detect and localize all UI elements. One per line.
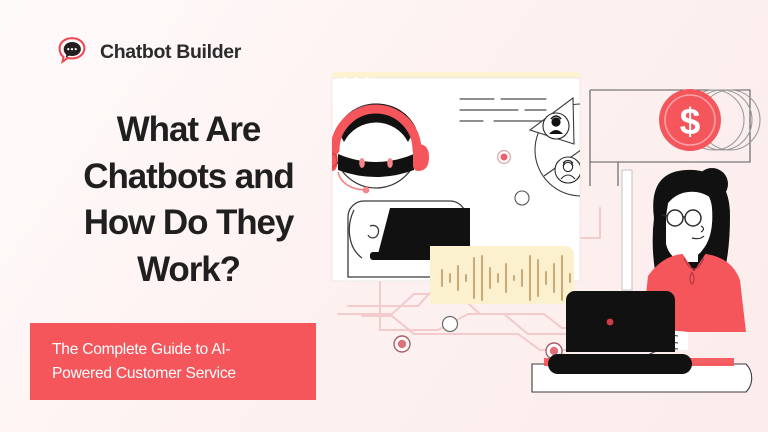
robot-earcup-left xyxy=(321,144,337,171)
illustration-svg: $ xyxy=(318,58,768,398)
headline-line-1: What Are xyxy=(117,110,261,149)
subtitle-line-2: Powered Customer Service xyxy=(52,365,236,382)
connector-node-top xyxy=(498,151,511,164)
user-avatar-3-icon xyxy=(555,157,581,183)
headline-line-3: How Do They xyxy=(84,203,294,242)
page-title: What Are Chatbots and How Do They Work? xyxy=(56,107,321,293)
dollar-coin-stack: $ xyxy=(659,89,760,151)
brand-logo-lockup: Chatbot Builder xyxy=(55,35,241,69)
hero-banner-page: Chatbot Builder What Are Chatbots and Ho… xyxy=(0,0,768,432)
subtitle-banner: The Complete Guide to AI- Powered Custom… xyxy=(30,323,316,400)
person-laptop-base xyxy=(548,354,692,374)
pie-slice-highlight xyxy=(581,104,623,150)
window-dot-1 xyxy=(342,77,348,83)
chat-bubble-dots-icon xyxy=(55,35,89,69)
connector-node-filled-left xyxy=(394,336,410,352)
brand-name-label: Chatbot Builder xyxy=(100,41,241,64)
headline-line-2: Chatbots and xyxy=(83,157,293,196)
hero-illustration: $ xyxy=(318,58,768,398)
headline-line-4: Work? xyxy=(137,250,240,289)
connector-node-open-left xyxy=(515,191,529,205)
robot-earcup-right xyxy=(413,144,429,171)
dollar-symbol: $ xyxy=(680,101,701,142)
laptop-indicator-dot xyxy=(607,319,614,326)
robot-eye-right xyxy=(387,158,393,168)
robot-mic-tip xyxy=(363,187,370,194)
user-avatar-1-icon xyxy=(543,113,569,139)
window-dot-3 xyxy=(364,77,370,83)
audio-waveform-card xyxy=(430,246,574,304)
subtitle-line-1: The Complete Guide to AI- xyxy=(52,341,230,358)
subtitle-text: The Complete Guide to AI- Powered Custom… xyxy=(52,338,236,385)
user-avatar-2-icon xyxy=(588,111,614,137)
user-avatar-4-icon xyxy=(592,156,618,183)
robot-eye-left xyxy=(359,158,365,168)
connector-node-open-mid xyxy=(443,317,458,332)
window-dot-2 xyxy=(353,77,359,83)
